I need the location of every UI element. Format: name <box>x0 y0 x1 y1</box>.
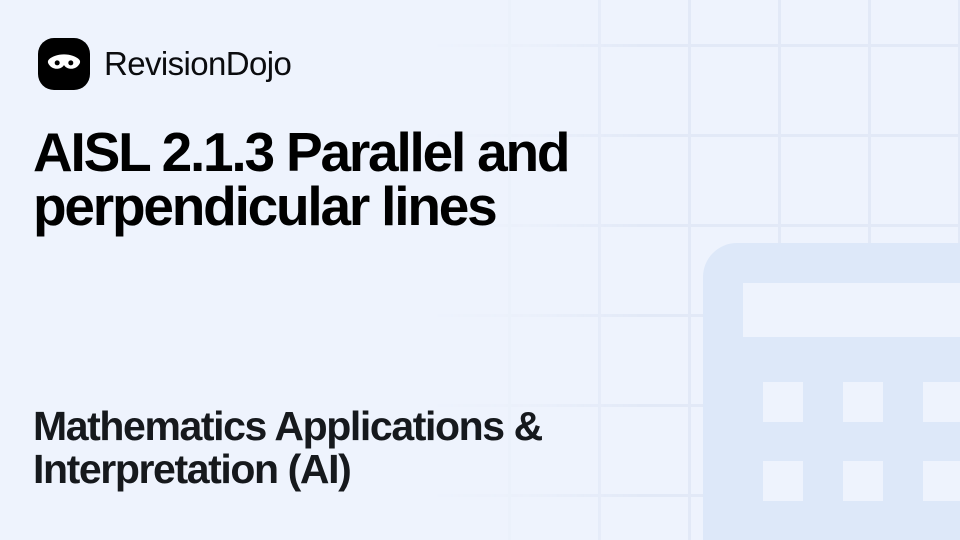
ninja-mask-icon <box>38 38 90 90</box>
calculator-key-1 <box>763 382 803 422</box>
title-slide: RevisionDojo AISL 2.1.3 Parallel and per… <box>0 0 960 540</box>
calculator-display <box>743 283 960 337</box>
brand-name: RevisionDojo <box>104 45 291 83</box>
calculator-key-5 <box>843 461 883 501</box>
calculator-key-3 <box>923 382 960 422</box>
brand-lockup: RevisionDojo <box>38 38 291 90</box>
page-title: AISL 2.1.3 Parallel and perpendicular li… <box>33 126 633 234</box>
subject-name: Mathematics Applications & Interpretatio… <box>33 405 733 492</box>
calculator-icon <box>703 243 960 540</box>
calculator-key-2 <box>843 382 883 422</box>
calculator-body <box>703 243 960 540</box>
calculator-key-4 <box>763 461 803 501</box>
calculator-key-6 <box>923 461 960 501</box>
